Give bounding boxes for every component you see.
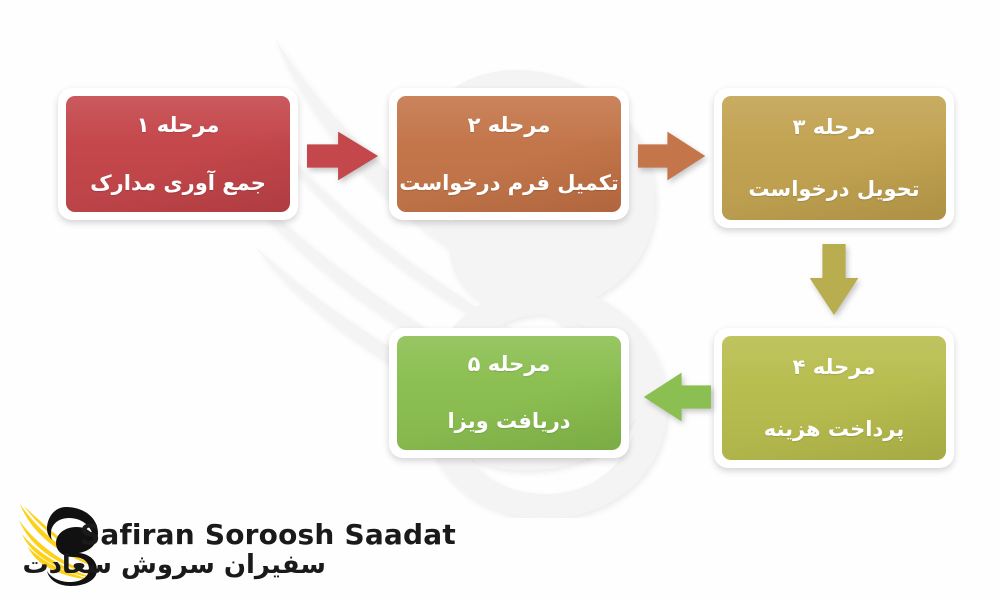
step-5-title: مرحله ۵ <box>468 352 551 376</box>
step-1-panel: مرحله ۱ جمع آوری مدارک <box>66 96 290 212</box>
step-2-panel: مرحله ۲ تکمیل فرم درخواست <box>397 96 621 212</box>
step-2-title: مرحله ۲ <box>468 113 551 137</box>
logo-persian-text: سفیران سروش سعادت <box>80 550 326 580</box>
step-3-title: مرحله ۳ <box>793 115 876 139</box>
arrow-right-icon-step2-step3 <box>638 127 708 185</box>
step-3-panel: مرحله ۳ تحویل درخواست <box>722 96 946 220</box>
arrow-left-icon-step4-step5 <box>641 368 711 426</box>
step-4-description: پرداخت هزینه <box>764 417 904 441</box>
step-5-description: دریافت ویزا <box>447 409 570 433</box>
arrow-down-icon-step3-step4 <box>805 244 863 318</box>
step-4-panel: مرحله ۴ پرداخت هزینه <box>722 336 946 460</box>
step-2-description: تکمیل فرم درخواست <box>399 171 619 195</box>
step-3-description: تحویل درخواست <box>748 177 919 201</box>
arrow-right-icon-step1-step2 <box>307 127 381 185</box>
step-box-3[interactable]: مرحله ۳ تحویل درخواست <box>714 88 954 228</box>
step-box-1[interactable]: مرحله ۱ جمع آوری مدارک <box>58 88 298 220</box>
step-box-5[interactable]: مرحله ۵ دریافت ویزا <box>389 328 629 458</box>
step-5-panel: مرحله ۵ دریافت ویزا <box>397 336 621 450</box>
step-box-2[interactable]: مرحله ۲ تکمیل فرم درخواست <box>389 88 629 220</box>
logo-latin-text: Safiran Soroosh Saadat <box>80 518 456 551</box>
step-box-4[interactable]: مرحله ۴ پرداخت هزینه <box>714 328 954 468</box>
step-4-title: مرحله ۴ <box>793 355 876 379</box>
flowchart-canvas: مرحله ۱ جمع آوری مدارک مرحله ۲ تکمیل فرم… <box>0 0 1000 600</box>
step-1-title: مرحله ۱ <box>137 113 220 137</box>
logo[interactable]: Safiran Soroosh Saadat سفیران سروش سعادت <box>18 500 328 590</box>
step-1-description: جمع آوری مدارک <box>90 171 266 195</box>
